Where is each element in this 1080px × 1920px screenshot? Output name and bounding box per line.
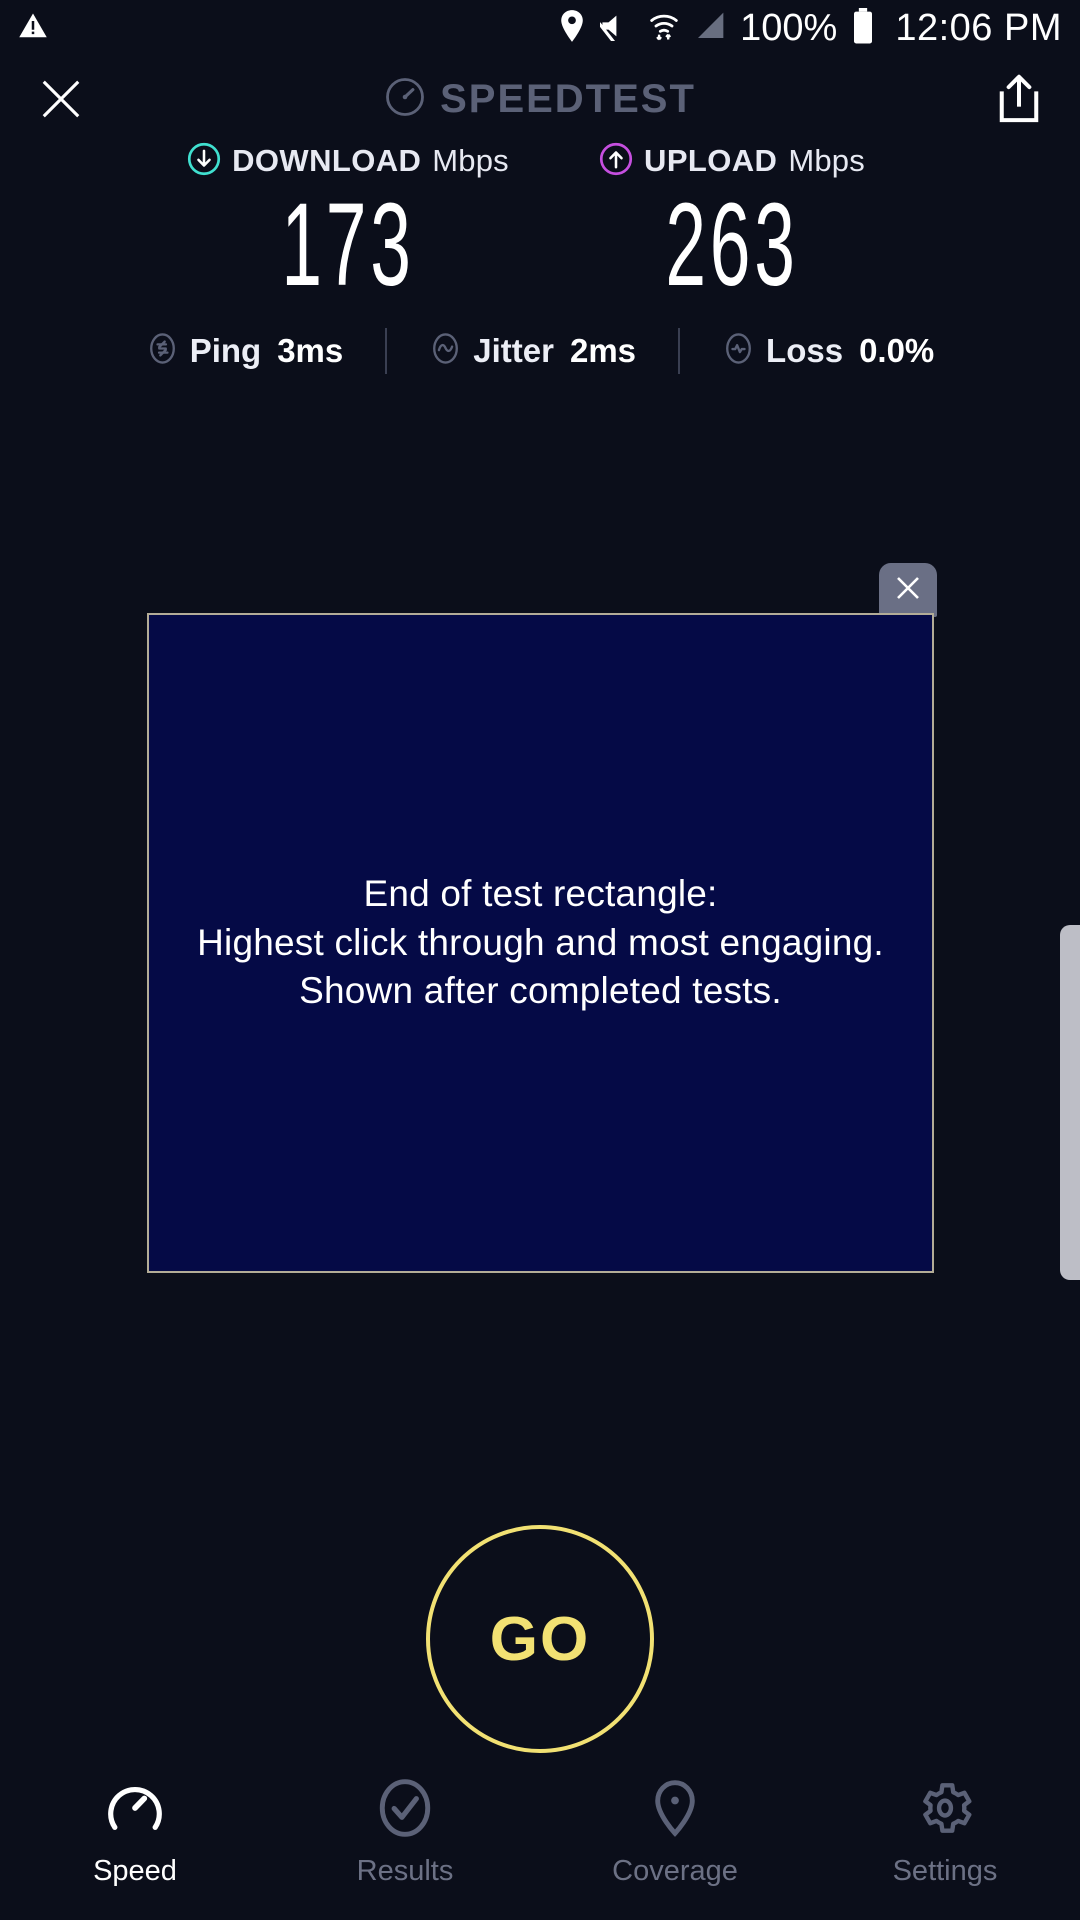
go-button[interactable]: GO <box>426 1525 654 1753</box>
nav-item-results[interactable]: Results <box>270 1771 540 1888</box>
download-label: DOWNLOAD <box>232 143 421 179</box>
ad-close-button[interactable] <box>879 563 937 617</box>
nav-item-speed[interactable]: Speed <box>0 1771 270 1888</box>
loss-value: 0.0% <box>859 332 934 370</box>
upload-value: 263 <box>614 186 850 304</box>
stat-divider <box>385 328 387 374</box>
wifi-icon <box>648 10 680 47</box>
app-title-group: SPEEDTEST <box>384 76 696 123</box>
upload-result: UPLOAD Mbps 263 <box>542 142 922 304</box>
status-bar-left <box>18 11 48 46</box>
location-pin-icon <box>644 1771 706 1845</box>
page-title: SPEEDTEST <box>440 77 696 122</box>
jitter-value: 2ms <box>570 332 636 370</box>
speedometer-icon <box>104 1771 166 1845</box>
ping-label: Ping <box>190 332 262 370</box>
status-bar-clock: 12:06 PM <box>895 7 1062 50</box>
ad-line-2: Highest click through and most engaging. <box>197 919 884 968</box>
upload-header: UPLOAD Mbps <box>542 142 922 180</box>
jitter-label: Jitter <box>473 332 554 370</box>
download-result: DOWNLOAD Mbps 173 <box>158 142 538 304</box>
nav-label-speed: Speed <box>93 1855 177 1888</box>
ping-value: 3ms <box>277 332 343 370</box>
jitter-stat: Jitter 2ms <box>429 332 636 370</box>
nav-item-settings[interactable]: Settings <box>810 1771 1080 1888</box>
ping-stat: Ping 3ms <box>146 332 344 370</box>
nav-label-coverage: Coverage <box>612 1855 738 1888</box>
stat-divider <box>678 328 680 374</box>
ad-line-3: Shown after completed tests. <box>197 967 884 1016</box>
upload-label: UPLOAD <box>644 143 777 179</box>
download-unit: Mbps <box>432 143 509 179</box>
arrow-down-circle-icon <box>187 142 221 181</box>
loss-icon <box>722 332 755 370</box>
download-value: 173 <box>230 186 466 304</box>
warning-triangle-icon <box>18 11 48 46</box>
close-icon[interactable] <box>38 76 84 122</box>
advertisement-banner[interactable]: End of test rectangle: Highest click thr… <box>147 613 934 1273</box>
location-pin-icon <box>558 9 586 48</box>
battery-full-icon <box>851 8 875 49</box>
app-header: SPEEDTEST <box>0 56 1080 142</box>
ad-line-1: End of test rectangle: <box>197 870 884 919</box>
check-circle-icon <box>374 1771 436 1845</box>
speedometer-icon <box>384 76 426 123</box>
jitter-icon <box>429 332 462 370</box>
go-button-label: GO <box>490 1604 590 1675</box>
gear-icon <box>914 1771 976 1845</box>
battery-percent-label: 100% <box>740 7 837 50</box>
close-icon <box>893 573 923 608</box>
nav-label-results: Results <box>357 1855 454 1888</box>
upload-unit: Mbps <box>788 143 865 179</box>
connection-stats-row: Ping 3ms Jitter 2ms <box>0 328 1080 374</box>
ping-icon <box>146 332 179 370</box>
arrow-up-circle-icon <box>599 142 633 181</box>
loss-stat: Loss 0.0% <box>722 332 934 370</box>
test-results-panel: DOWNLOAD Mbps 173 UPLOAD Mbps 263 <box>0 142 1080 374</box>
status-bar-right: 100% 12:06 PM <box>558 7 1062 50</box>
speed-results-row: DOWNLOAD Mbps 173 UPLOAD Mbps 263 <box>0 142 1080 304</box>
bottom-navigation-bar: Speed Results Coverage <box>0 1765 1080 1920</box>
cell-signal-icon <box>694 11 726 46</box>
speedtest-app-screen: 100% 12:06 PM SPEEDTEST <box>0 0 1080 1920</box>
loss-label: Loss <box>766 332 843 370</box>
nav-item-coverage[interactable]: Coverage <box>540 1771 810 1888</box>
share-icon[interactable] <box>996 74 1042 124</box>
download-header: DOWNLOAD Mbps <box>158 142 538 180</box>
vertical-scrollbar[interactable] <box>1060 925 1080 1280</box>
nav-label-settings: Settings <box>893 1855 998 1888</box>
status-bar: 100% 12:06 PM <box>0 0 1080 56</box>
ad-text: End of test rectangle: Highest click thr… <box>197 870 884 1016</box>
mute-icon <box>600 11 634 46</box>
